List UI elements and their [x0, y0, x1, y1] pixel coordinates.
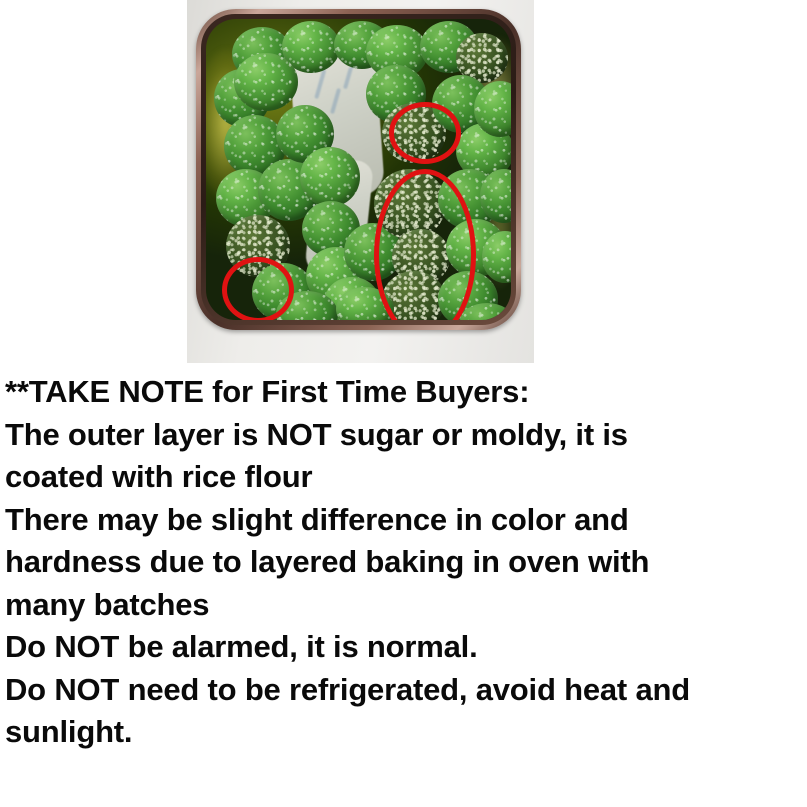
- candy: [300, 147, 360, 207]
- candy: [234, 53, 298, 111]
- note-line-3: coated with rice flour: [5, 456, 805, 499]
- candy-tin: [196, 9, 521, 330]
- tin-rim: [201, 14, 516, 325]
- note-line-6: many batches: [5, 584, 805, 627]
- annotation-ellipse-top-right: [389, 102, 461, 164]
- wrapper-print-mark: [330, 88, 341, 114]
- note-line-1: **TAKE NOTE for First Time Buyers:: [5, 371, 805, 414]
- product-photo: [187, 0, 534, 363]
- product-note-page: **TAKE NOTE for First Time Buyers: The o…: [0, 0, 807, 807]
- note-line-4: There may be slight difference in color …: [5, 499, 805, 542]
- product-note-text: **TAKE NOTE for First Time Buyers: The o…: [5, 371, 805, 754]
- tin-interior: [206, 19, 511, 320]
- note-line-2: The outer layer is NOT sugar or moldy, i…: [5, 414, 805, 457]
- note-line-7: Do NOT be alarmed, it is normal.: [5, 626, 805, 669]
- annotation-ellipse-bottom-left: [222, 257, 294, 320]
- note-line-9: sunlight.: [5, 711, 805, 754]
- note-line-5: hardness due to layered baking in oven w…: [5, 541, 805, 584]
- note-line-8: Do NOT need to be refrigerated, avoid he…: [5, 669, 805, 712]
- wrapper-print-mark: [343, 67, 353, 89]
- wrapper-print-mark: [314, 69, 326, 99]
